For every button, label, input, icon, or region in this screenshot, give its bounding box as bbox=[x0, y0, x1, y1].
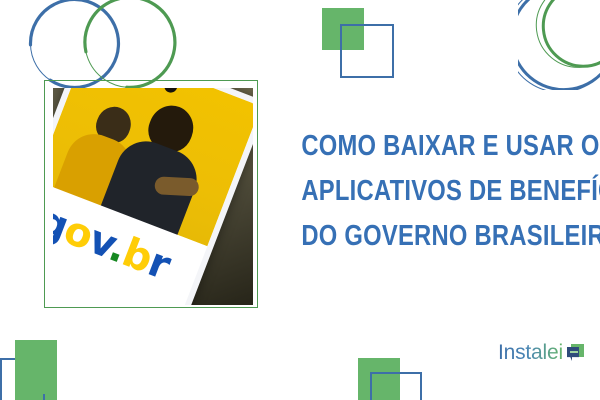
page-title: COMO BAIXAR E USAR OS APLICATIVOS DE BEN… bbox=[301, 124, 568, 259]
instalei-flag-icon bbox=[567, 344, 584, 361]
square-solid-bottom-left bbox=[15, 340, 57, 400]
rule-line-bottom-left-stub bbox=[43, 394, 45, 400]
square-outline-top-right bbox=[340, 24, 394, 78]
headline-line-1: COMO BAIXAR E USAR OS bbox=[301, 124, 568, 169]
instalei-flag-icon-blue bbox=[567, 347, 579, 361]
instalei-flag-icon-slit bbox=[570, 351, 578, 353]
headline-line-3: DO GOVERNO BRASILEIRO bbox=[301, 214, 568, 259]
slide-canvas: gov.br Entre com gov.br COMO BAIXAR E US… bbox=[0, 0, 600, 400]
crescent-arcs-icon bbox=[518, 0, 600, 90]
headline-line-2: APLICATIVOS DE BENEFÍCIOS bbox=[301, 169, 568, 214]
photo-gov-br-phone: gov.br Entre com gov.br bbox=[53, 88, 253, 305]
person-two-arm bbox=[154, 176, 199, 196]
brand-wordmark: Instalei bbox=[498, 342, 563, 363]
square-outline-bottom-center bbox=[370, 372, 422, 400]
brand-logo[interactable]: Instalei bbox=[498, 342, 584, 363]
